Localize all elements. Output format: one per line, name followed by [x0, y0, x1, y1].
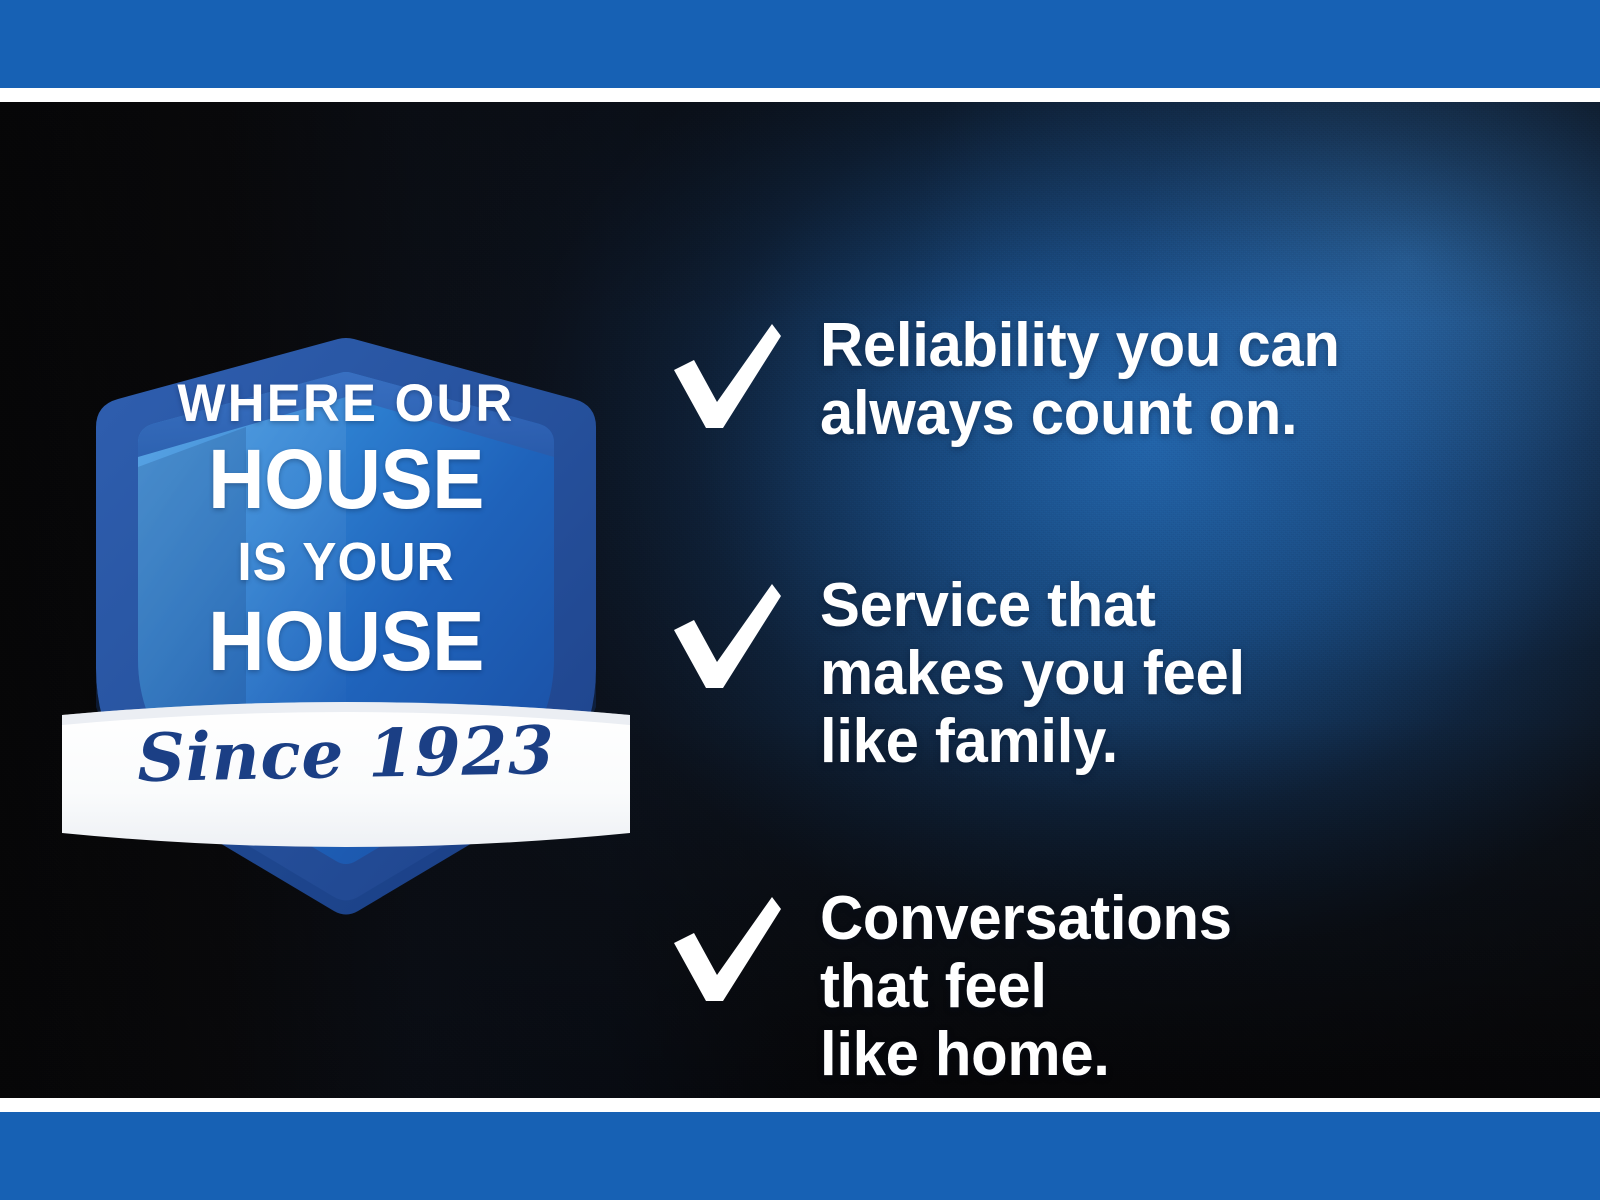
- shield-badge: WHERE OUR HOUSE IS YOUR HOUSE Since 1923: [66, 277, 626, 917]
- benefit-text: Conversations that feel like home.: [820, 885, 1232, 1090]
- top-white-divider: [0, 88, 1600, 102]
- benefit-item-conversations: Conversations that feel like home.: [668, 885, 1548, 1090]
- main-stage: WHERE OUR HOUSE IS YOUR HOUSE Since 1923…: [0, 102, 1600, 1098]
- benefit-item-service: Service that makes you feel like family.: [668, 572, 1548, 777]
- check-icon: [668, 316, 786, 434]
- check-icon: [668, 576, 786, 694]
- benefit-text: Service that makes you feel like family.: [820, 572, 1245, 777]
- benefits-list: Reliability you can always count on. Ser…: [668, 220, 1548, 1098]
- bottom-white-divider: [0, 1098, 1600, 1112]
- promotional-poster: WHERE OUR HOUSE IS YOUR HOUSE Since 1923…: [0, 0, 1600, 1200]
- ribbon-banner: [62, 702, 630, 847]
- top-brand-bar: [0, 0, 1600, 88]
- benefit-item-reliability: Reliability you can always count on.: [668, 312, 1548, 448]
- bottom-brand-bar: [0, 1112, 1600, 1200]
- benefit-text: Reliability you can always count on.: [820, 312, 1340, 448]
- check-icon: [668, 889, 786, 1007]
